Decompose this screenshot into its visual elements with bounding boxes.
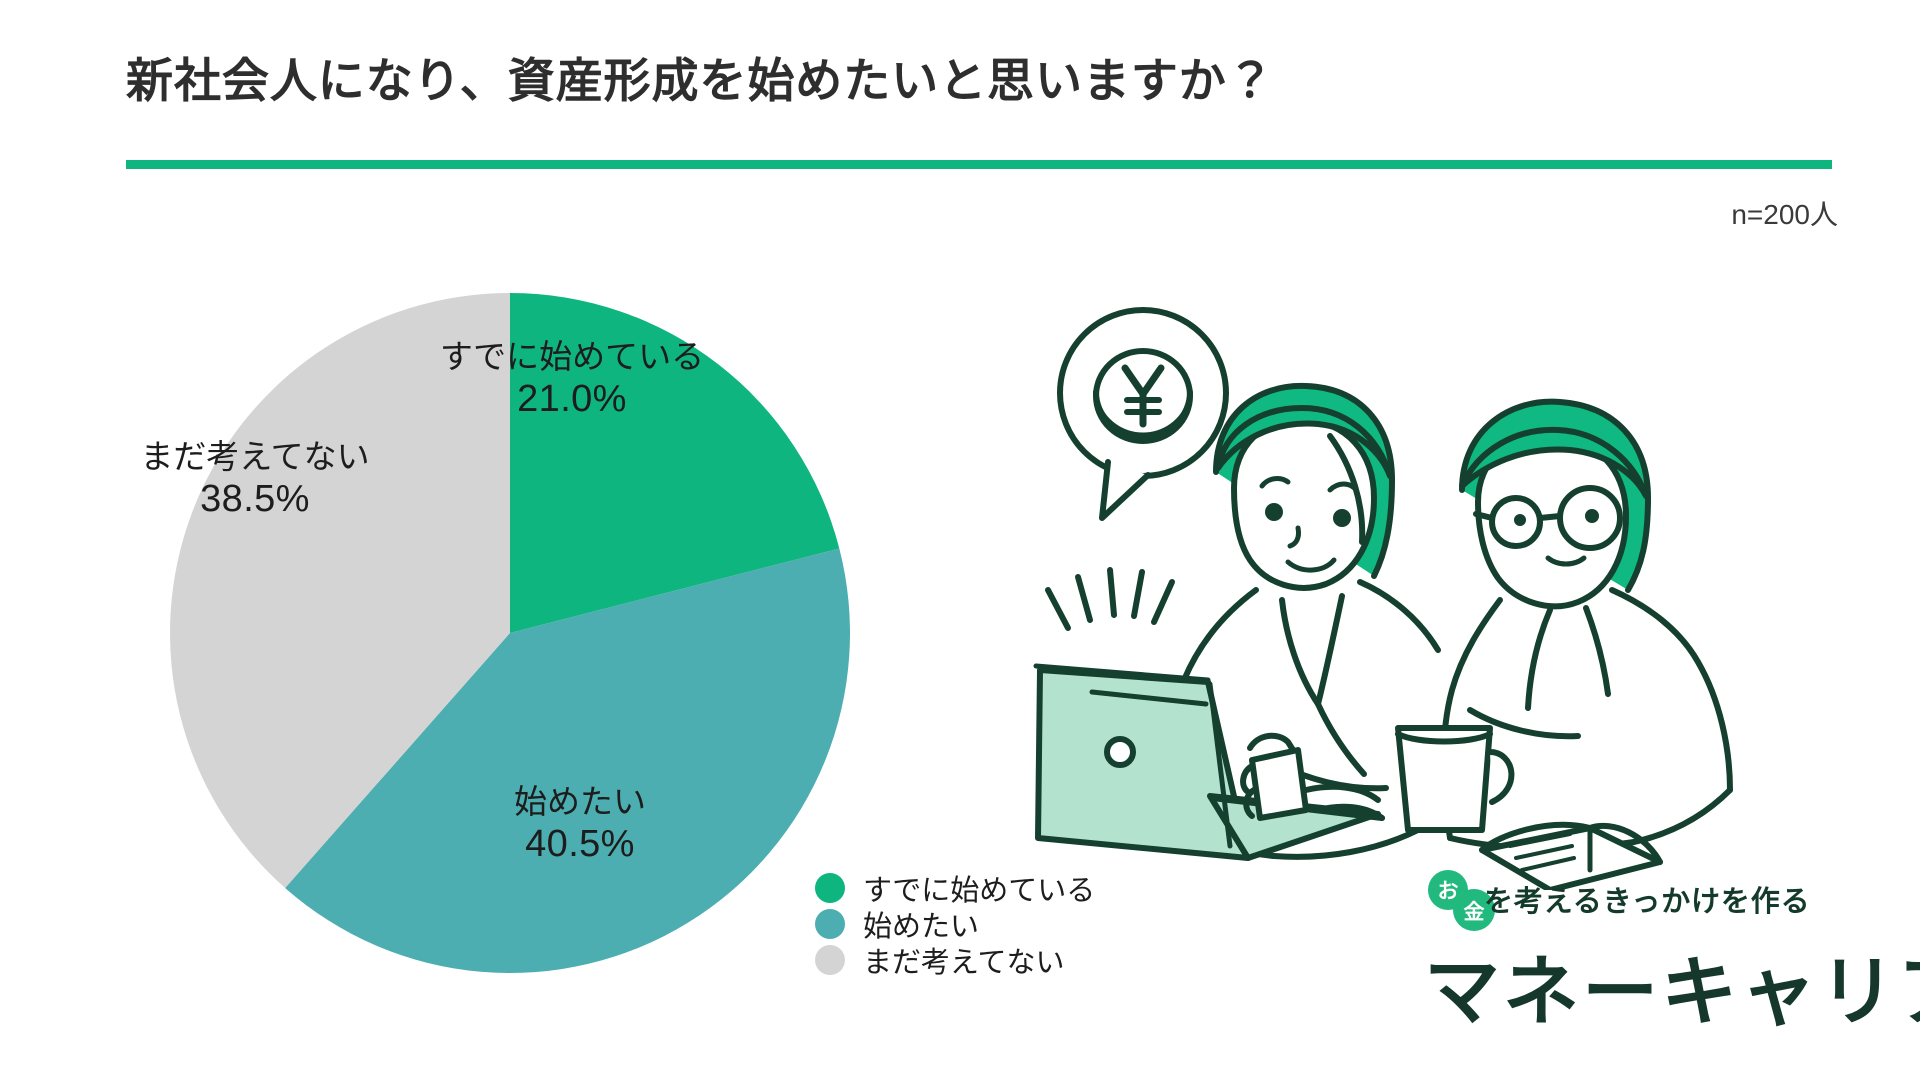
page-title: 新社会人になり、資産形成を始めたいと思いますか？ xyxy=(126,42,1275,111)
pie-label-started: すでに始めている 21.0% xyxy=(412,338,732,421)
pie-label-want-to-start-value: 40.5% xyxy=(450,822,710,866)
title-underline-rule xyxy=(126,160,1832,169)
coffee-mug-icon xyxy=(1398,728,1511,830)
couple-at-laptop-illustration xyxy=(1030,290,1790,890)
pie-label-started-text: すでに始めている xyxy=(440,338,704,375)
pie-label-started-value: 21.0% xyxy=(412,377,732,421)
yen-speech-bubble-icon xyxy=(1060,310,1226,518)
pie-label-not-considered-text: まだ考えてない xyxy=(140,438,369,475)
legend-swatch-icon xyxy=(815,873,845,903)
pie-label-not-considered: まだ考えてない 38.5% xyxy=(115,438,395,521)
logo-tagline: を考えるきっかけを作る xyxy=(1484,878,1811,920)
brand-logo: お 金 を考えるきっかけを作る マネーキャリア xyxy=(1424,878,1844,1048)
pie-chart: すでに始めている 21.0% 始めたい 40.5% まだ考えてない 38.5% xyxy=(150,278,870,998)
laptop-icon xyxy=(1036,666,1382,858)
pie-label-want-to-start-text: 始めたい xyxy=(514,783,646,820)
legend-swatch-icon xyxy=(815,909,845,939)
legend-swatch-icon xyxy=(815,945,845,975)
emphasis-lines-icon xyxy=(1048,570,1172,628)
legend-item-label: まだ考えてない xyxy=(863,939,1065,981)
legend-item-not-considered[interactable]: まだ考えてない xyxy=(815,942,1095,978)
svg-text:金: 金 xyxy=(1464,900,1485,924)
pie-label-not-considered-value: 38.5% xyxy=(115,477,395,521)
svg-text:お: お xyxy=(1438,880,1459,903)
sample-size-label: n=200人 xyxy=(1731,193,1838,233)
legend-item-want-to-start[interactable]: 始めたい xyxy=(815,906,1095,942)
logo-wordmark: マネーキャリア xyxy=(1424,930,1920,1040)
pie-label-want-to-start: 始めたい 40.5% xyxy=(450,783,710,866)
